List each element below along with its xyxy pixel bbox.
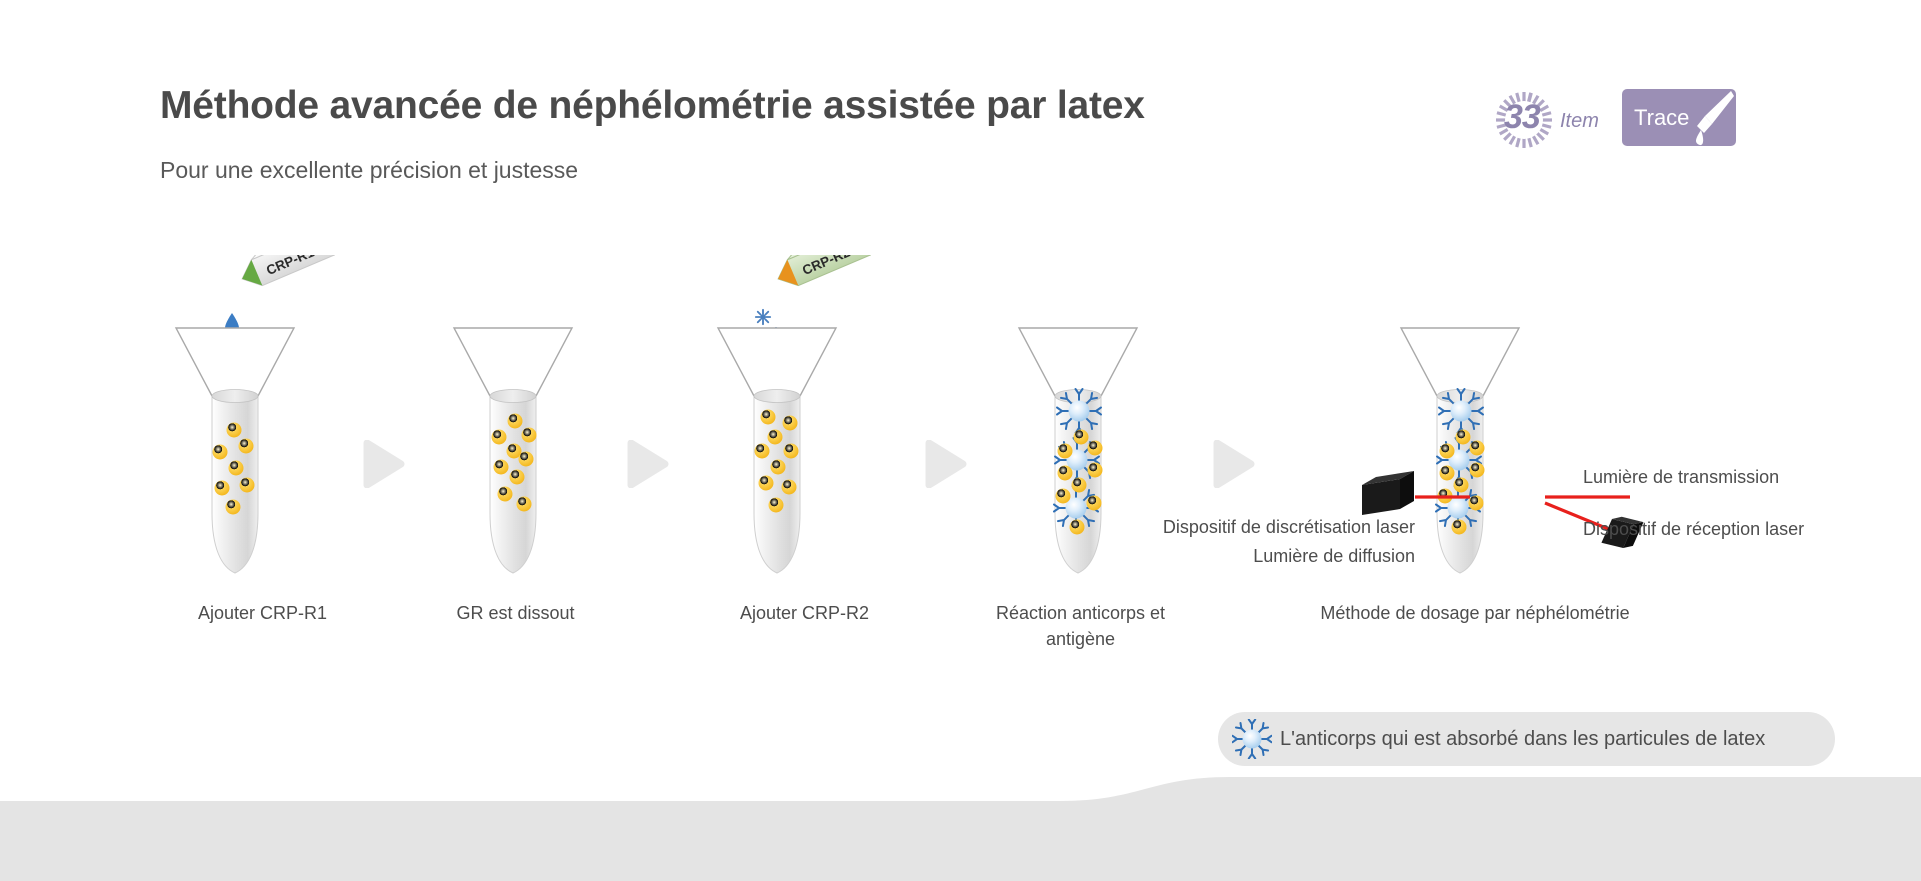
step-caption-1: Ajouter CRP-R1 — [115, 600, 410, 626]
laser-emitter-label-line1: Dispositif de discrétisation laser — [1065, 517, 1415, 538]
slide-root: Méthode avancée de néphélométrie assisté… — [0, 0, 1921, 881]
badge-item-count: 33 — [1504, 98, 1540, 137]
footer-band-shape — [0, 777, 1921, 881]
laser-emitter-label-line2: Lumière de diffusion — [1065, 546, 1415, 567]
laser-transmission-label: Lumière de transmission — [1583, 467, 1779, 488]
badge-33-item: 33 Item — [1490, 88, 1610, 152]
badge-trace: Trace — [1622, 89, 1736, 146]
arrow-separator-2 — [627, 440, 669, 488]
step-rbc-dissolved: GR est dissout — [448, 255, 608, 605]
laser-receiver-label: Dispositif de réception laser — [1583, 519, 1804, 540]
reagent-vial-crp-r2: CRP-R2 — [770, 255, 881, 292]
laser-emitter-device — [1362, 471, 1414, 515]
badge-item-word: Item — [1560, 110, 1599, 133]
tube-illustration-3: CRP-R2 — [712, 255, 932, 600]
pipette-drop-icon — [1674, 89, 1734, 146]
step-caption-5: Méthode de dosage par néphélométrie — [1265, 600, 1685, 626]
tube-illustration-2 — [448, 255, 608, 600]
footer-band — [0, 777, 1921, 881]
arrow-separator-1 — [363, 440, 405, 488]
step-add-crp-r1: CRP-R1 Ajouter CR — [170, 255, 390, 605]
arrow-separator-3 — [925, 440, 967, 488]
tube-illustration-1: CRP-R1 — [170, 255, 390, 600]
legend-latex-particle: L'anticorps qui est absorbé dans les par… — [1218, 712, 1835, 766]
page-title: Méthode avancée de néphélométrie assisté… — [160, 84, 1145, 128]
reagent-vial-crp-r1: CRP-R1 — [234, 255, 345, 292]
step-caption-4: Réaction anticorps et antigène — [943, 600, 1218, 652]
page-subtitle: Pour une excellente précision et justess… — [160, 157, 578, 184]
step-add-crp-r2: CRP-R2 — [712, 255, 932, 605]
latex-antibody-particle-icon — [1232, 719, 1272, 759]
arrow-separator-4 — [1213, 440, 1255, 488]
step-caption-3: Ajouter CRP-R2 — [657, 600, 952, 626]
step-caption-2: GR est dissout — [378, 600, 653, 626]
legend-text: L'anticorps qui est absorbé dans les par… — [1280, 728, 1765, 751]
